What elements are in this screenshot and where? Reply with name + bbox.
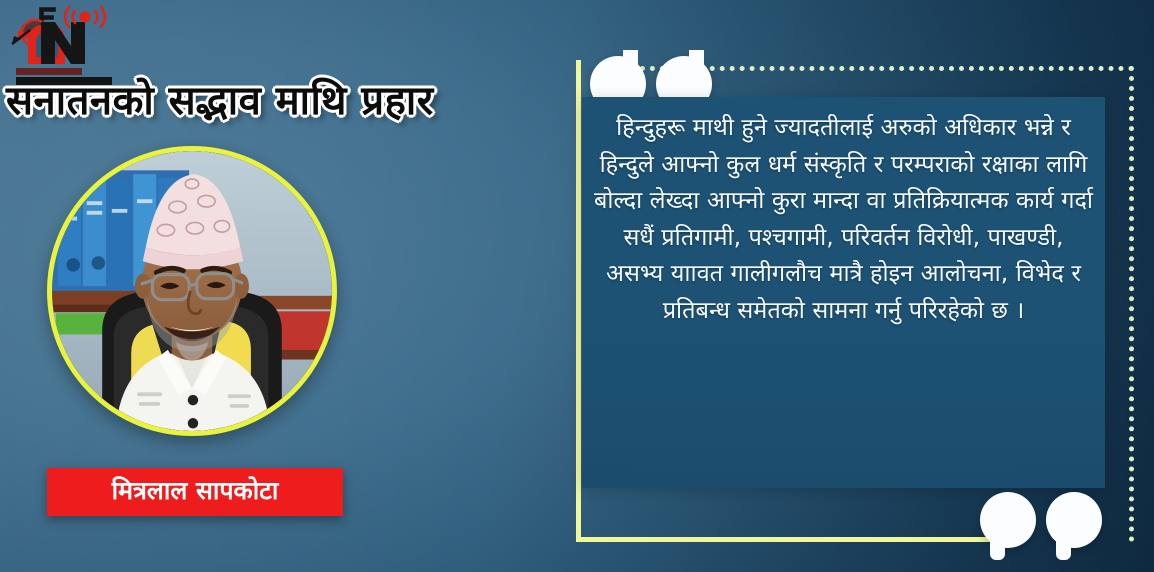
- close-quote-bubble-left: [980, 492, 1036, 548]
- avatar: [47, 146, 337, 436]
- quote-block: हिन्दुहरू माथी हुने ज्यादतीलाई अरुको अधि…: [552, 40, 1137, 540]
- portrait-photo: [52, 151, 332, 431]
- poster-canvas: सनातनको सद्भाव माथि प्रहार: [0, 0, 1154, 572]
- close-quote-icon: [980, 492, 1102, 548]
- page-title: सनातनको सद्भाव माथि प्रहार: [6, 74, 554, 130]
- close-quote-bubble-right: [1046, 492, 1102, 548]
- quote-panel: हिन्दुहरू माथी हुने ज्यादतीलाई अरुको अधि…: [582, 97, 1105, 488]
- status-badge: मित्रलाल सापकोटा: [47, 468, 343, 516]
- quote-text: हिन्दुहरू माथी हुने ज्यादतीलाई अरुको अधि…: [592, 109, 1095, 328]
